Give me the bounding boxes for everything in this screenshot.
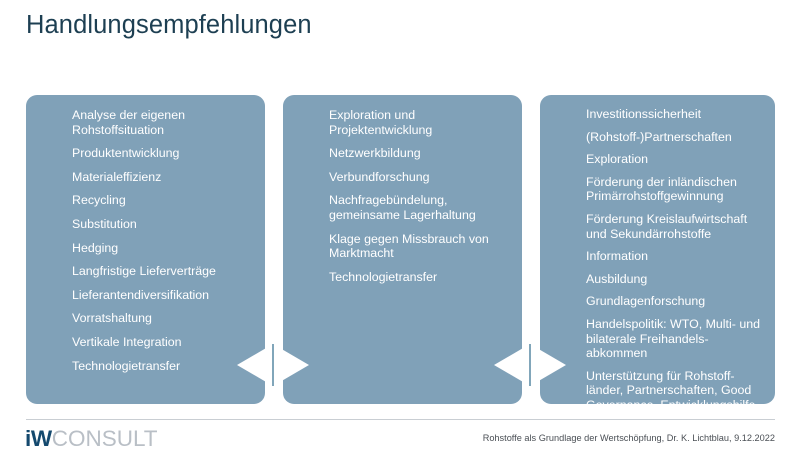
list-item: Nachfragebündelung, gemeinsame Lagerhalt… [329, 193, 516, 222]
logo-consult-word: CONSULT [52, 426, 158, 451]
list-item: Investitionssicherheit [586, 107, 769, 122]
list-item: Analyse der eigenen Rohstoffsituation [72, 108, 259, 137]
list-item: Lieferantendiversifikation [72, 288, 259, 303]
list-item: Klage gegen Missbrauch von Marktmacht [329, 232, 516, 261]
column-label-interaktion-rotator: Interaktion [283, 104, 289, 404]
list-item: Technologietransfer [329, 270, 516, 285]
footer-credit: Rohstoffe als Grundlage der Wertschöpfun… [483, 433, 775, 443]
list-item: Technologietransfer [72, 359, 259, 374]
list-item: Information [586, 249, 769, 264]
list-item: Unterstützung für Rohstoff- länder, Part… [586, 369, 769, 404]
list-item: Vorratshaltung [72, 311, 259, 326]
column-items-unternehmen: Analyse der eigenen Rohstoffsituation Pr… [72, 95, 265, 404]
column-items-staat: Investitionssicherheit (Rohstoff-)Partne… [586, 95, 775, 404]
column-interaktion: Interaktion Exploration und Projektentwi… [283, 95, 522, 404]
column-label-unternehmen-rotator: Unternehmen [26, 104, 32, 404]
iw-consult-logo: iWCONSULT [25, 428, 158, 451]
column-label-staat-wrap: Staat [540, 95, 586, 404]
list-item: Substitution [72, 217, 259, 232]
column-label-staat-rotator: Staat [540, 104, 546, 404]
column-label-unternehmen: Unternehmen [26, 104, 32, 404]
list-item: Ausbildung [586, 272, 769, 287]
list-item: Langfristige Lieferverträge [72, 264, 259, 279]
list-item: (Rohstoff-)Partnerschaften [586, 130, 769, 145]
recommendation-columns: Unternehmen Analyse der eigenen Rohstoff… [0, 0, 800, 420]
list-item: Förderung der inländischen Primärrohstof… [586, 175, 769, 204]
list-item: Vertikale Integration [72, 335, 259, 350]
list-item: Förderung Kreislaufwirtschaft und Sekund… [586, 212, 769, 241]
list-item: Grundlagenforschung [586, 294, 769, 309]
column-label-interaktion-wrap: Interaktion [283, 95, 329, 404]
column-label-staat: Staat [540, 104, 546, 404]
column-label-unternehmen-wrap: Unternehmen [26, 95, 72, 404]
list-item: Hedging [72, 241, 259, 256]
list-item: Materialeffizienz [72, 170, 259, 185]
slide-canvas: Handlungsempfehlungen Unternehmen Analys… [0, 0, 800, 462]
list-item: Netzwerkbildung [329, 146, 516, 161]
column-unternehmen: Unternehmen Analyse der eigenen Rohstoff… [26, 95, 265, 404]
logo-iw-mark: iW [25, 426, 52, 451]
list-item: Handelspolitik: WTO, Multi- und bilatera… [586, 317, 769, 361]
list-item: Exploration und Projektentwicklung [329, 108, 516, 137]
list-item: Recycling [72, 193, 259, 208]
column-label-interaktion: Interaktion [283, 104, 289, 404]
list-item: Verbundforschung [329, 170, 516, 185]
footer-divider [26, 419, 775, 420]
column-staat: Staat Investitionssicherheit (Rohstoff-)… [540, 95, 775, 404]
list-item: Produktentwicklung [72, 146, 259, 161]
column-items-interaktion: Exploration und Projektentwicklung Netzw… [329, 95, 522, 404]
list-item: Exploration [586, 152, 769, 167]
